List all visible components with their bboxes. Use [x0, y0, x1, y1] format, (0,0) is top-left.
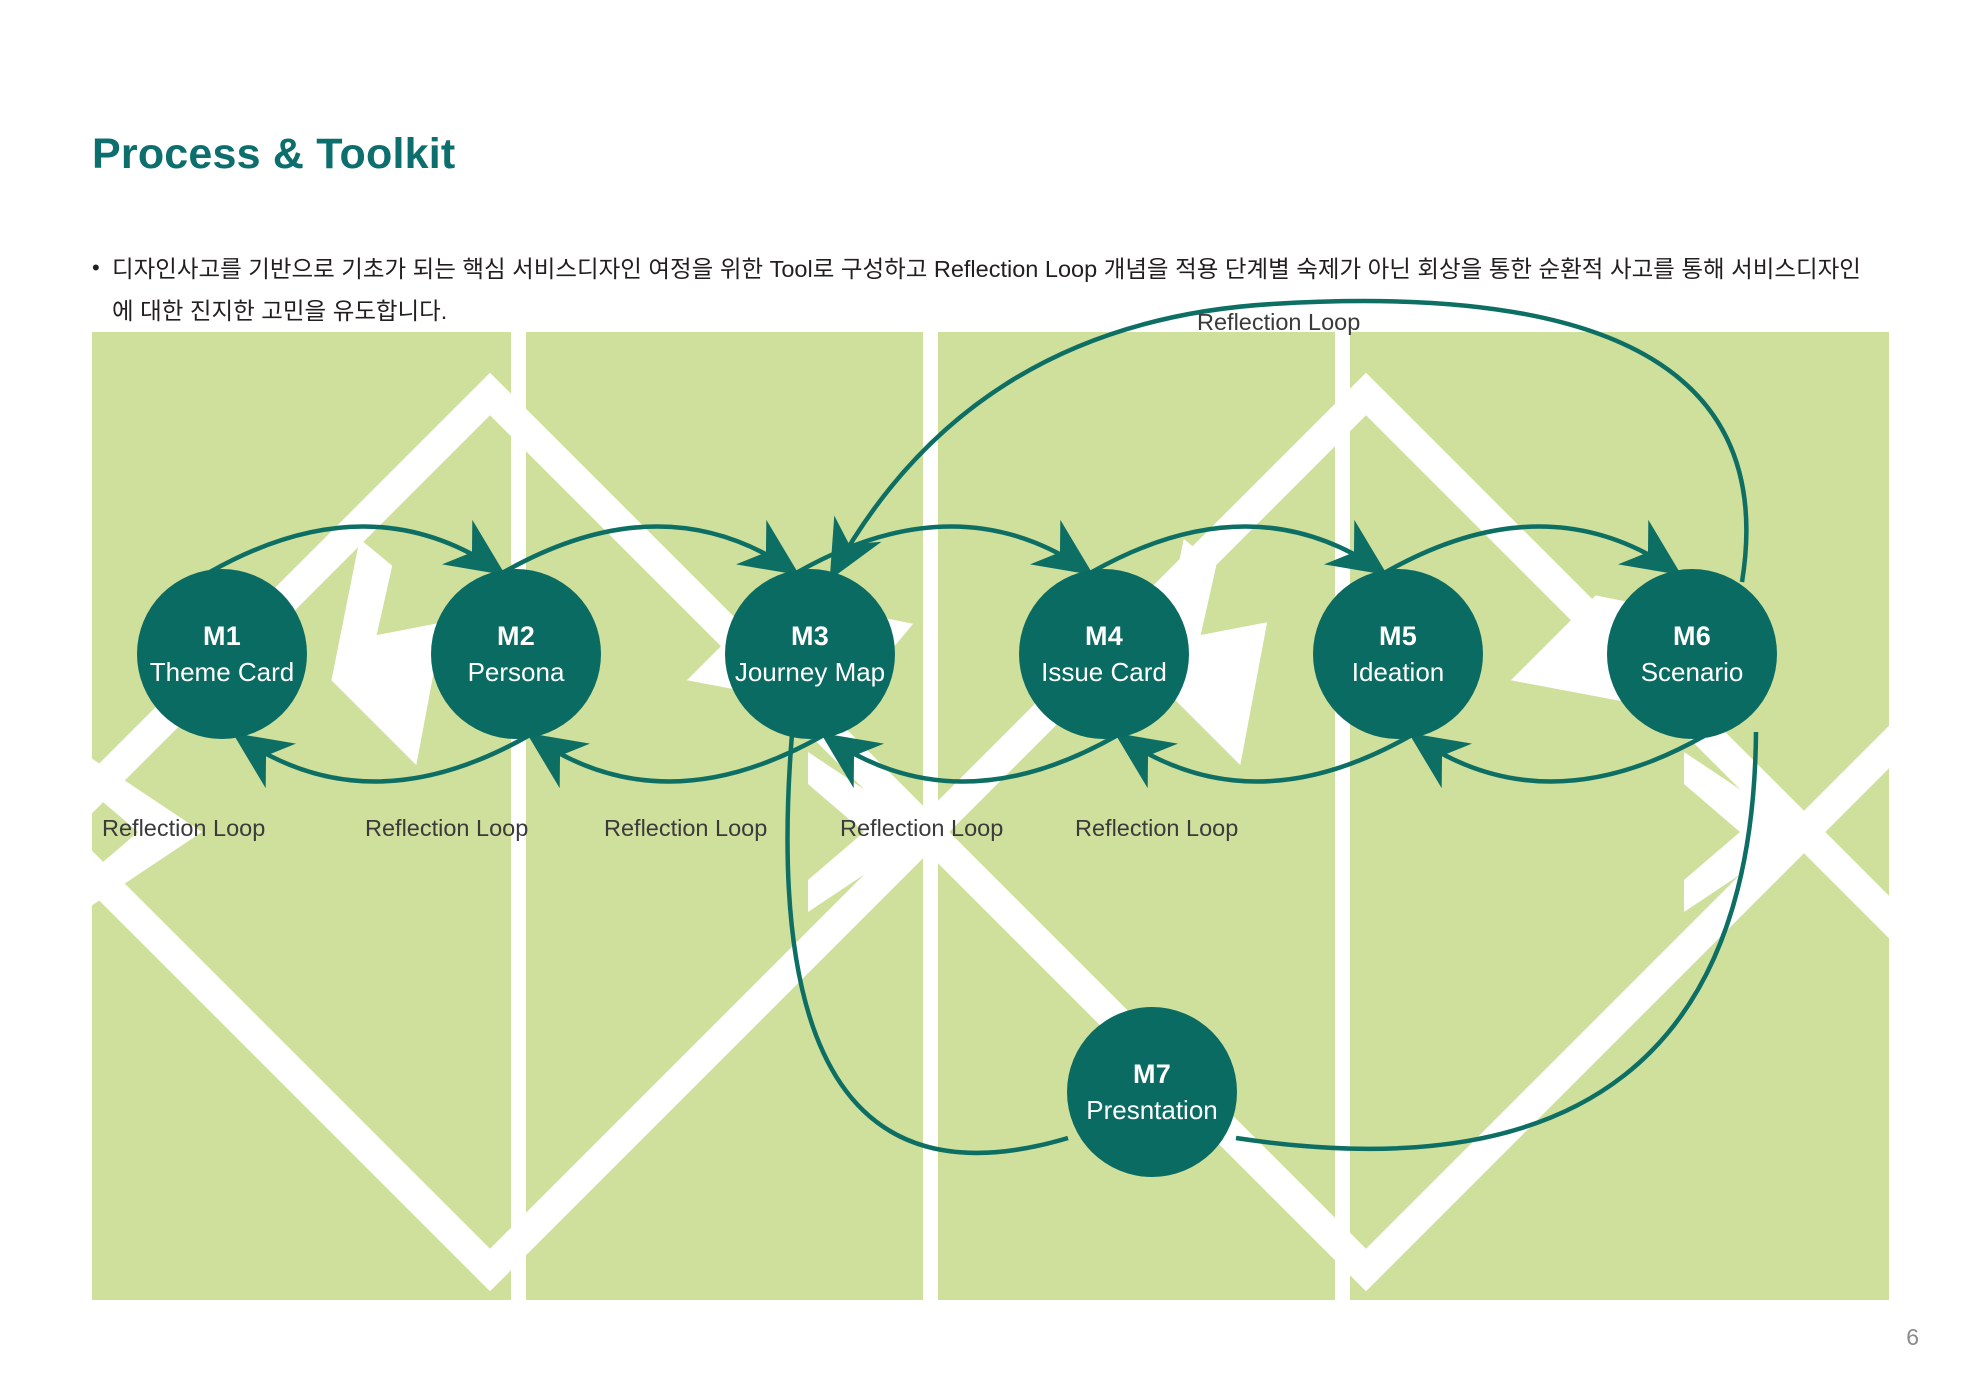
- node-m1-label: Theme Card: [150, 659, 295, 686]
- node-m4-id: M4: [1085, 622, 1123, 650]
- node-m3[interactable]: M3 Journey Map: [725, 569, 895, 739]
- loop-label-grand: Reflection Loop: [1197, 309, 1360, 336]
- node-m2-label: Persona: [468, 659, 565, 686]
- node-m5[interactable]: M5 Ideation: [1313, 569, 1483, 739]
- node-m2-id: M2: [497, 622, 535, 650]
- node-m3-label: Journey Map: [735, 659, 885, 686]
- node-m3-id: M3: [791, 622, 829, 650]
- node-m1-id: M1: [203, 622, 241, 650]
- slide: Process & Toolkit • 디자인사고를 기반으로 기초가 되는 핵…: [0, 0, 1977, 1377]
- node-m4[interactable]: M4 Issue Card: [1019, 569, 1189, 739]
- node-m4-label: Issue Card: [1041, 659, 1167, 686]
- loop-label-5: Reflection Loop: [1075, 815, 1238, 842]
- panel-divider-3: [1335, 332, 1350, 1300]
- bullet-marker: •: [92, 248, 112, 288]
- page-title: Process & Toolkit: [92, 130, 455, 179]
- bullet-block: • 디자인사고를 기반으로 기초가 되는 핵심 서비스디자인 여정을 위한 To…: [92, 248, 1892, 332]
- node-m6[interactable]: M6 Scenario: [1607, 569, 1777, 739]
- node-m5-id: M5: [1379, 622, 1417, 650]
- loop-label-2: Reflection Loop: [365, 815, 528, 842]
- node-m1[interactable]: M1 Theme Card: [137, 569, 307, 739]
- node-m2[interactable]: M2 Persona: [431, 569, 601, 739]
- node-m5-label: Ideation: [1352, 659, 1445, 686]
- node-m6-label: Scenario: [1641, 659, 1744, 686]
- bullet-row: • 디자인사고를 기반으로 기초가 되는 핵심 서비스디자인 여정을 위한 To…: [92, 248, 1892, 332]
- node-m6-id: M6: [1673, 622, 1711, 650]
- page-number: 6: [1906, 1324, 1919, 1351]
- process-toolkit-diagram: M1 Theme Card M2 Persona M3 Journey Map …: [92, 332, 1889, 1300]
- node-m7-label: Presntation: [1086, 1097, 1218, 1124]
- loop-label-1: Reflection Loop: [102, 815, 265, 842]
- bullet-text: 디자인사고를 기반으로 기초가 되는 핵심 서비스디자인 여정을 위한 Tool…: [112, 248, 1872, 332]
- loop-label-4: Reflection Loop: [840, 815, 1003, 842]
- loop-label-3: Reflection Loop: [604, 815, 767, 842]
- node-m7[interactable]: M7 Presntation: [1067, 1007, 1237, 1177]
- node-m7-id: M7: [1133, 1060, 1171, 1088]
